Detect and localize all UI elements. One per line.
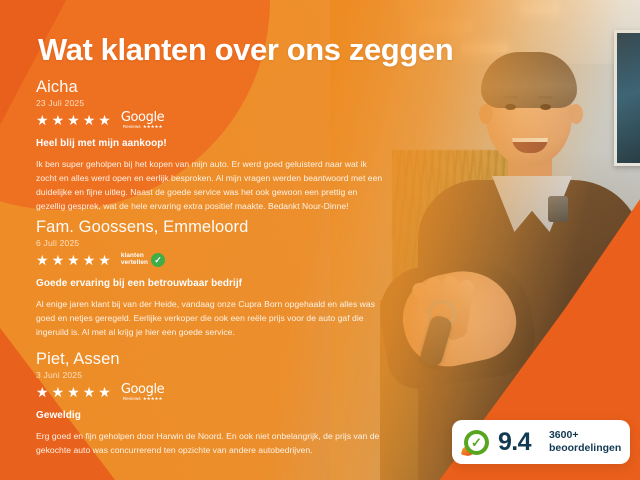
star-icon: ★ — [83, 385, 96, 399]
review-title: Geweldig — [36, 410, 386, 421]
review-count-label: beoordelingen — [549, 442, 621, 455]
review-meta: ★ ★ ★ ★ ★ Google Reviews ★★★★★ — [36, 383, 386, 401]
google-reviews-sub: Reviews ★★★★★ — [123, 397, 163, 402]
klantenvertellen-line2: vertellen — [121, 260, 148, 267]
star-icon: ★ — [98, 253, 111, 267]
review-date: 3 Juni 2025 — [36, 370, 386, 380]
star-icon: ★ — [36, 113, 49, 127]
star-icon: ★ — [83, 113, 96, 127]
review-count: 3600+ — [549, 429, 621, 442]
review-body: Ik ben super geholpen bij het kopen van … — [36, 158, 386, 214]
reviewer-name: Aicha — [36, 78, 386, 96]
klantenvertellen-wordmark: klanten vertellen — [121, 253, 148, 266]
review-meta: ★ ★ ★ ★ ★ Google Reviews ★★★★★ — [36, 111, 386, 129]
review-card: Fam. Goossens, Emmeloord 6 Juli 2025 ★ ★… — [36, 218, 386, 348]
star-icon: ★ — [98, 385, 111, 399]
google-wordmark: Google — [121, 383, 164, 396]
review-card: Piet, Assen 3 Juni 2025 ★ ★ ★ ★ ★ Google… — [36, 350, 386, 466]
score-value: 9.4 — [498, 430, 531, 455]
review-date: 6 Juli 2025 — [36, 238, 386, 248]
star-icon: ★ — [52, 385, 65, 399]
star-icon: ★ — [36, 385, 49, 399]
star-icon: ★ — [36, 253, 49, 267]
review-title: Heel blij met mijn aankoop! — [36, 138, 386, 149]
star-rating: ★ ★ ★ ★ ★ — [36, 253, 111, 267]
overall-score-badge: ✓ 9.4 3600+ beoordelingen — [452, 420, 630, 464]
star-icon: ★ — [52, 113, 65, 127]
review-card: Aicha 23 Juli 2025 ★ ★ ★ ★ ★ Google Revi… — [36, 78, 386, 222]
star-rating: ★ ★ ★ ★ ★ — [36, 385, 111, 399]
star-icon: ★ — [67, 113, 80, 127]
review-body: Erg goed en fijn geholpen door Harwin de… — [36, 430, 386, 458]
reviewer-name: Piet, Assen — [36, 350, 386, 368]
content-layer: Wat klanten over ons zeggen Aicha 23 Jul… — [0, 0, 640, 480]
google-reviews-stars: ★★★★★ — [143, 125, 163, 130]
star-icon: ★ — [67, 385, 80, 399]
verified-check-icon: ✓ — [464, 430, 489, 455]
check-circle-icon: ✓ — [151, 253, 165, 267]
star-icon: ★ — [67, 253, 80, 267]
star-icon: ★ — [98, 113, 111, 127]
klantenvertellen-logo: klanten vertellen ✓ — [121, 253, 165, 267]
star-rating: ★ ★ ★ ★ ★ — [36, 113, 111, 127]
google-reviews-logo: Google Reviews ★★★★★ — [121, 111, 164, 130]
reviewer-name: Fam. Goossens, Emmeloord — [36, 218, 386, 236]
google-reviews-label: Reviews — [123, 397, 141, 402]
google-wordmark: Google — [121, 111, 164, 124]
google-reviews-sub: Reviews ★★★★★ — [123, 125, 163, 130]
check-ring: ✓ — [464, 430, 489, 455]
star-icon: ★ — [52, 253, 65, 267]
review-date: 23 Juli 2025 — [36, 98, 386, 108]
page-title: Wat klanten over ons zeggen — [38, 32, 453, 68]
review-banner: VDH Wat klanten over ons zeggen Aicha 23… — [0, 0, 640, 480]
star-icon: ★ — [83, 253, 96, 267]
review-title: Goede ervaring bij een betrouwbaar bedri… — [36, 278, 386, 289]
review-meta: ★ ★ ★ ★ ★ klanten vertellen ✓ — [36, 251, 386, 269]
check-mark: ✓ — [468, 434, 485, 451]
google-reviews-logo: Google Reviews ★★★★★ — [121, 383, 164, 402]
score-caption: 3600+ beoordelingen — [549, 429, 621, 454]
review-body: Al enige jaren klant bij van der Heide, … — [36, 298, 386, 340]
google-reviews-stars: ★★★★★ — [143, 397, 163, 402]
google-reviews-label: Reviews — [123, 125, 141, 130]
